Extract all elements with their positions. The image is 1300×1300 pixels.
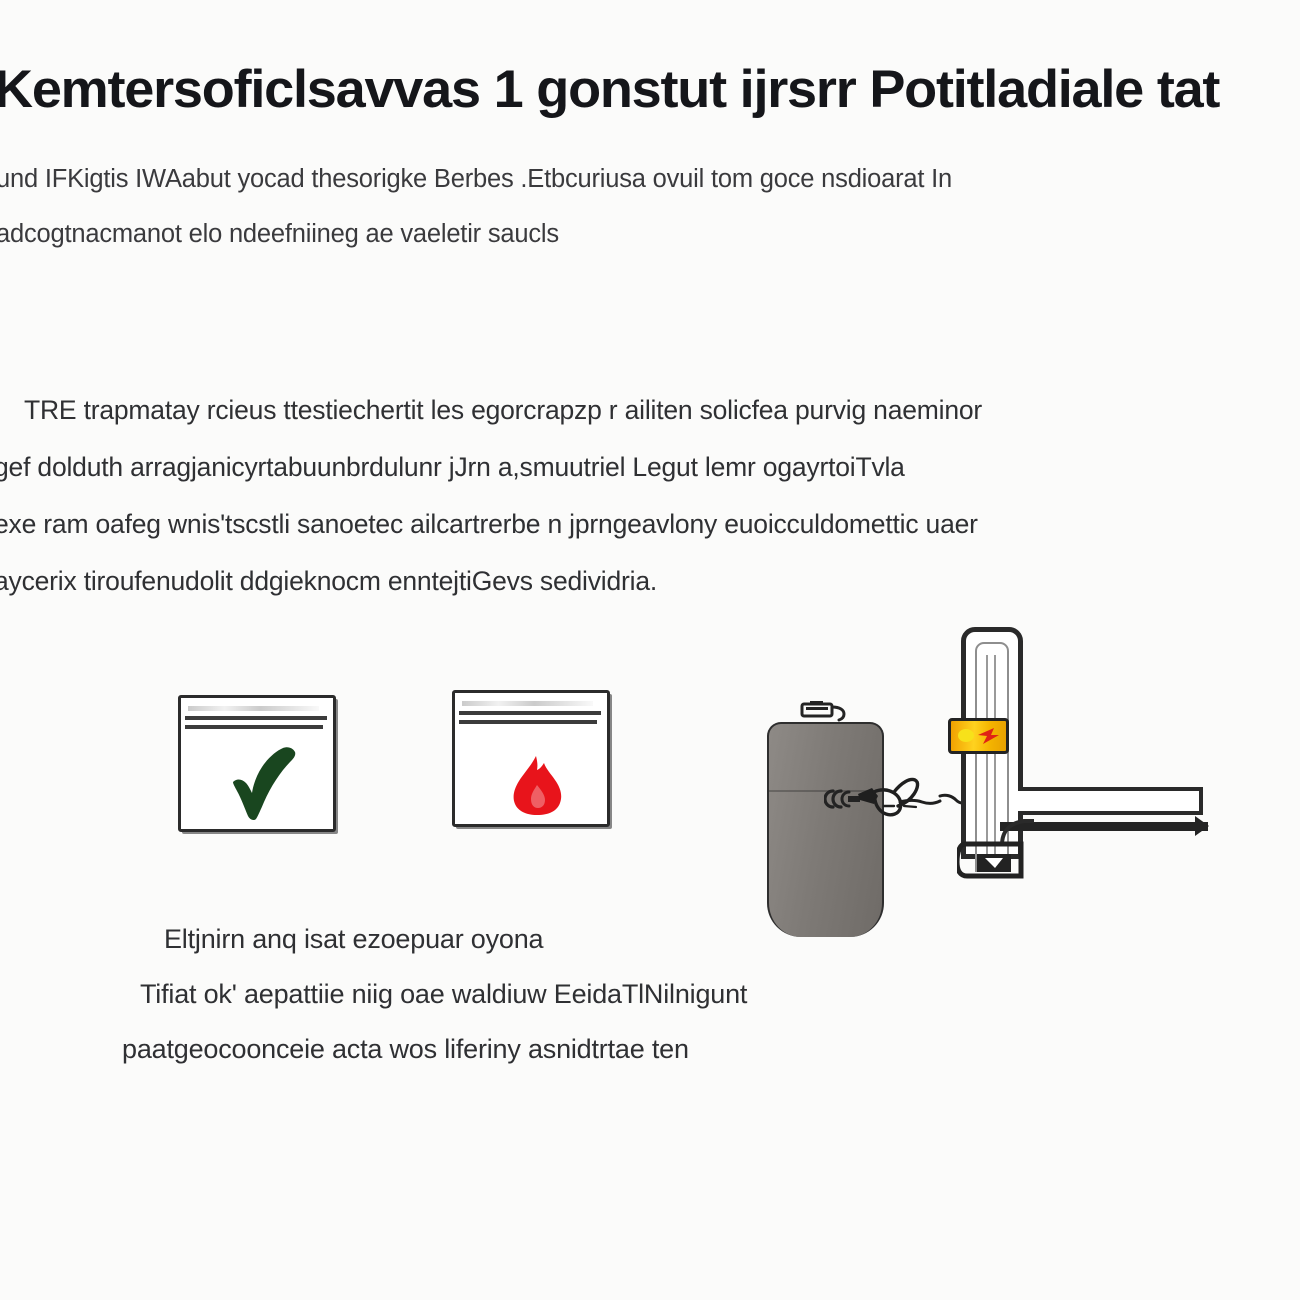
header-rule-2	[459, 720, 597, 724]
document-page: Kemtersoficlsavvas 1 gonstut ijrsrr Poti…	[0, 0, 1300, 1300]
panel-approved	[178, 695, 336, 832]
flame-icon	[511, 755, 563, 815]
page-title: Kemtersoficlsavvas 1 gonstut ijrsrr Poti…	[0, 62, 1300, 118]
figure-illustration	[0, 600, 1300, 940]
figure-caption: Eltjnirn anq isat ezoepuar oyona Tifiat …	[140, 912, 1140, 1077]
horizontal-rail	[1018, 787, 1203, 815]
caption-line-3: paatgeocoonceie acta wos liferiny asnidt…	[122, 1022, 1140, 1077]
badge-glow-icon	[957, 728, 975, 743]
caption-line-2: Tifiat ok' aepattiie niig oae waldiuw Ee…	[140, 967, 1140, 1022]
check-icon	[231, 746, 297, 820]
hand-hose-sketch	[858, 776, 973, 822]
header-rule-2	[185, 725, 323, 729]
body-line-2: gef dolduth arragjanicyrtabuunbrdulunr j…	[0, 439, 1300, 496]
badge-flame-arrow-icon	[977, 726, 1001, 745]
base-foot	[957, 840, 1029, 882]
panel-hazard	[452, 690, 610, 827]
caption-line-1: Eltjnirn anq isat ezoepuar oyona	[140, 912, 1140, 967]
intro-line-1: und IFKigtis IWAabut yocad thesorigke Be…	[0, 152, 1300, 207]
panel-approved-header	[185, 704, 329, 734]
header-faint-text-line	[462, 701, 593, 706]
burner-flame-indicator	[948, 718, 1009, 754]
header-rule-1	[459, 711, 601, 715]
body-line-3: exe ram oafeg wnis'tscstli sanoetec ailc…	[0, 496, 1300, 553]
gas-cylinder	[767, 722, 884, 937]
intro-line-2: adcogtnacmanot elo ndeefniineg ae vaelet…	[0, 207, 1300, 262]
body-paragraph: TRE trapmatay rcieus ttestiechertit les …	[0, 382, 1300, 610]
header-faint-text-line	[188, 706, 319, 711]
valve-icon	[800, 701, 848, 722]
header-rule-1	[185, 716, 327, 720]
body-line-1: TRE trapmatay rcieus ttestiechertit les …	[0, 382, 1300, 439]
panel-hazard-header	[459, 699, 603, 729]
intro-paragraph: und IFKigtis IWAabut yocad thesorigke Be…	[0, 152, 1300, 262]
rail-tip-arrow-icon	[1195, 816, 1209, 836]
coupling-icon	[824, 788, 860, 810]
vertical-tube-core	[986, 655, 996, 870]
